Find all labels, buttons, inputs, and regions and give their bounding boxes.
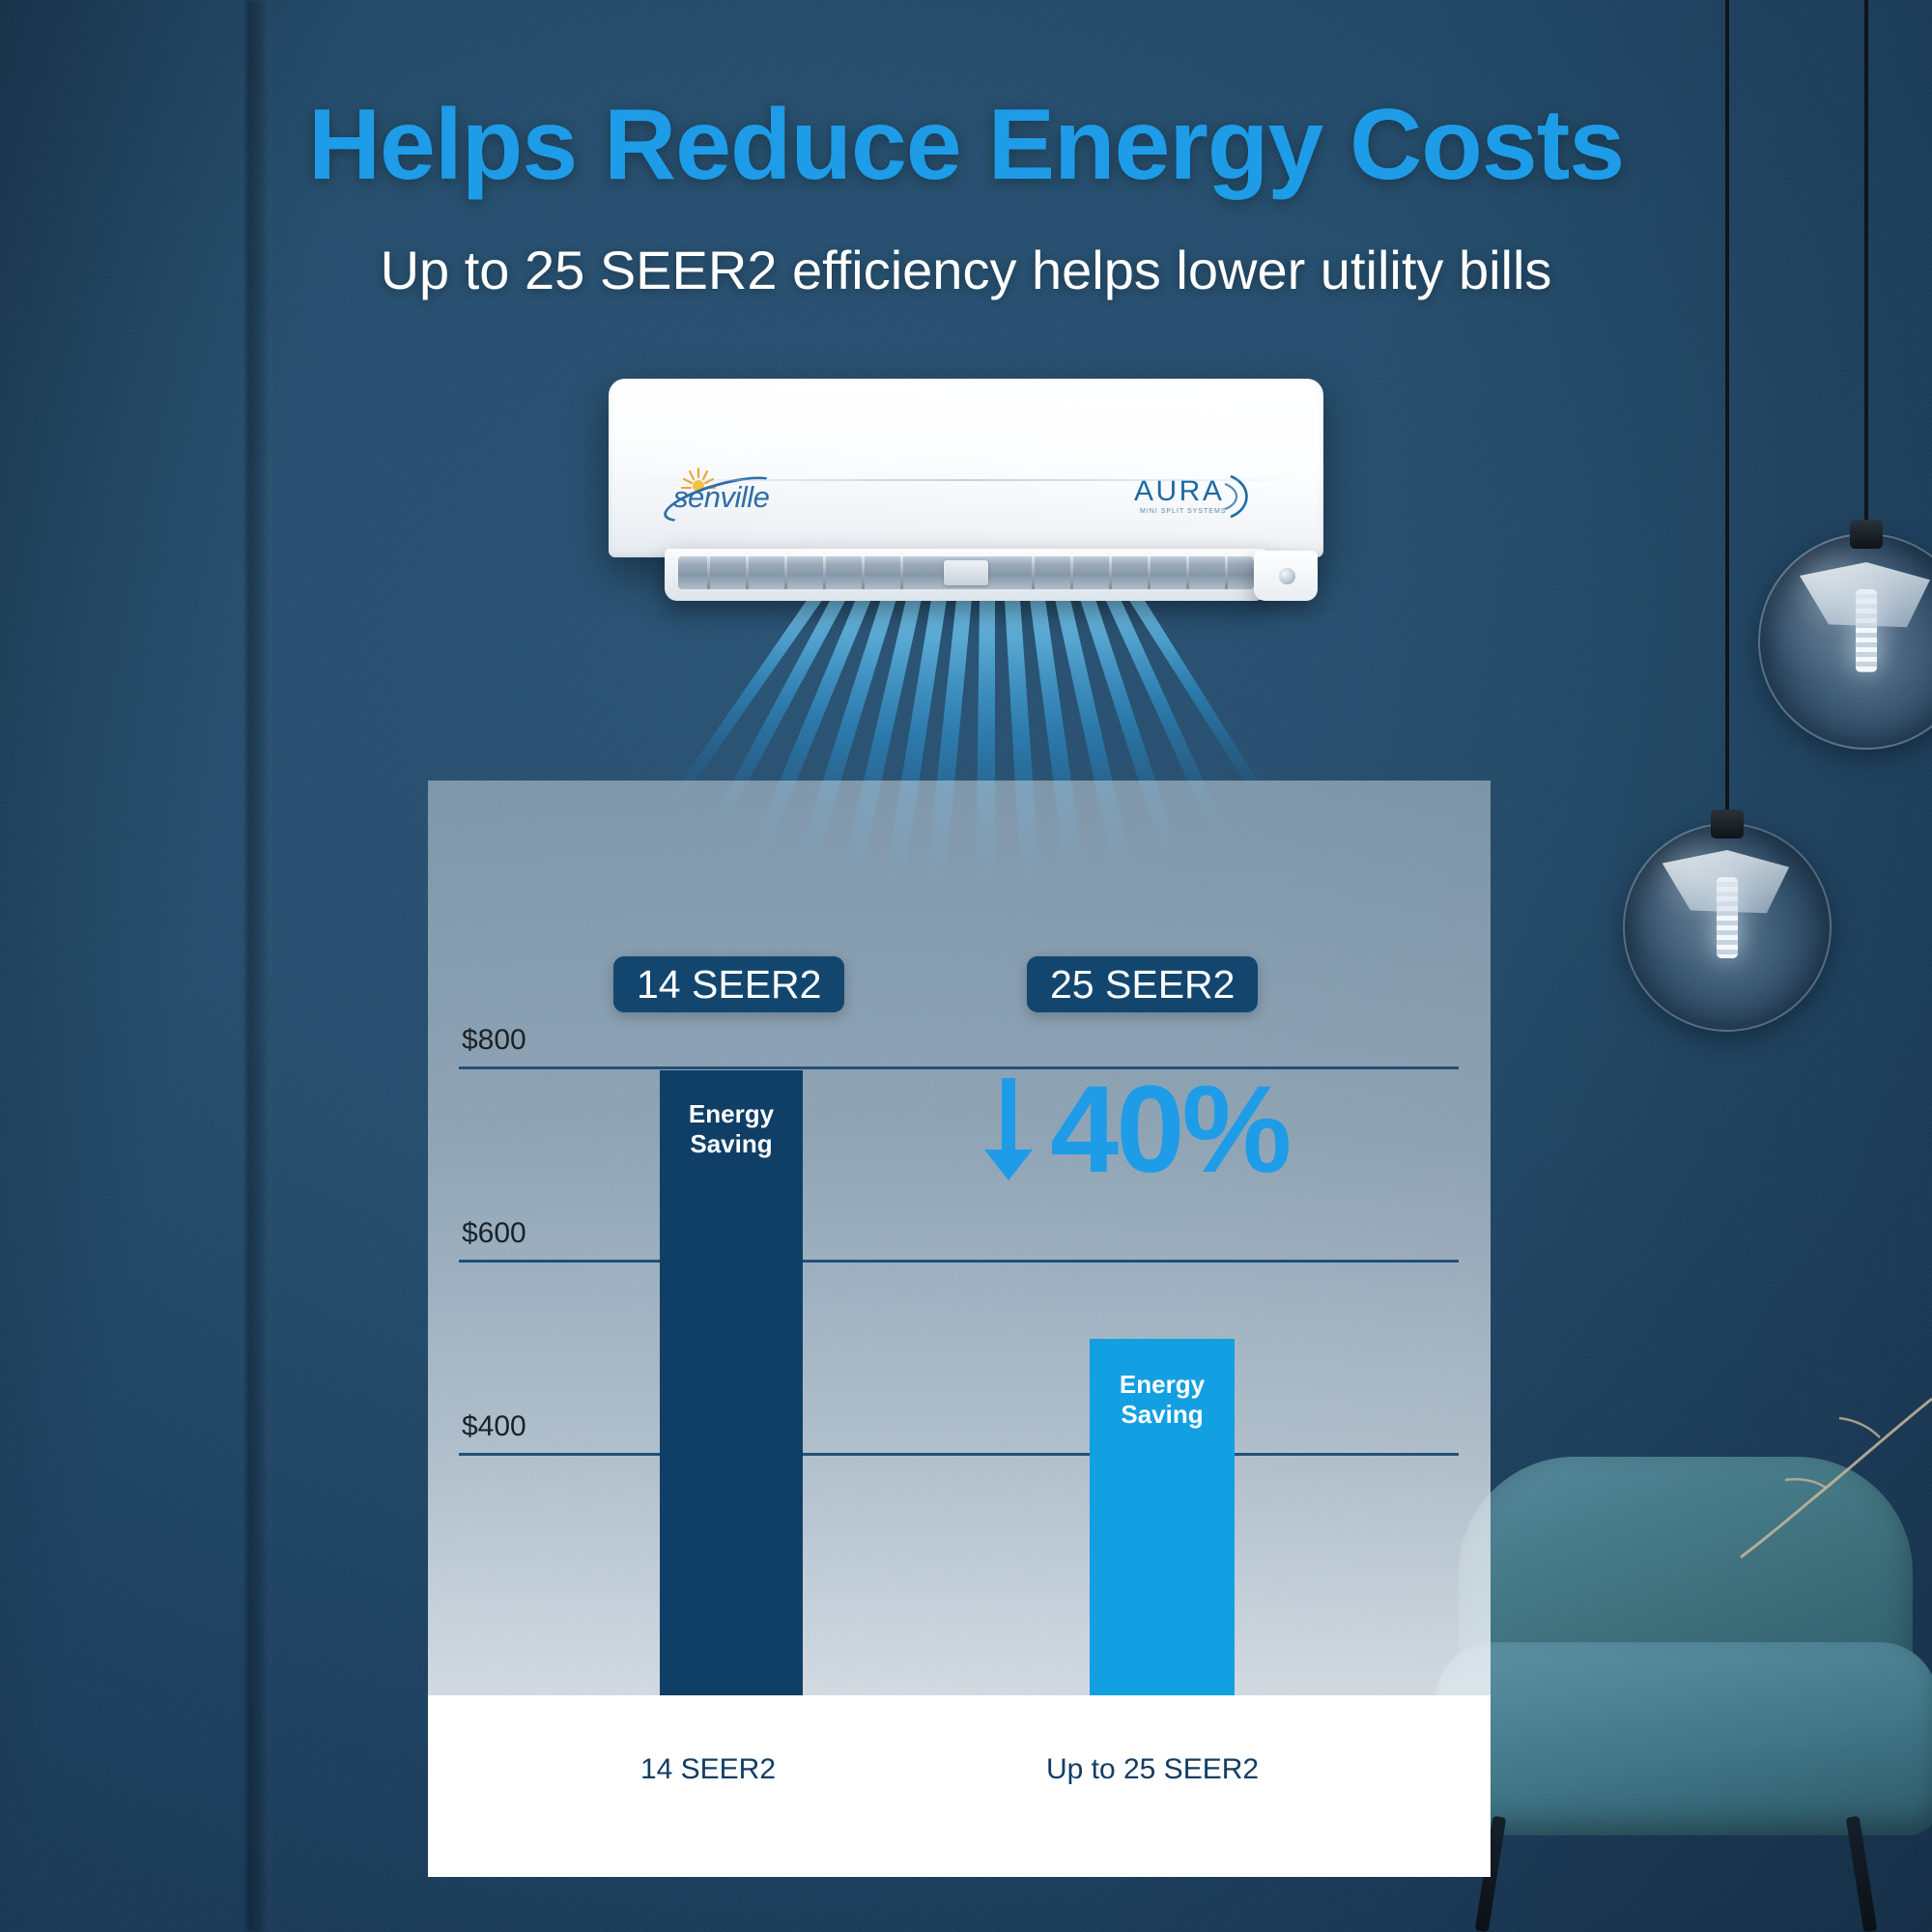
y-tick-800: $800 xyxy=(462,1026,526,1055)
y-tick-400: $400 xyxy=(462,1412,526,1441)
bar-14-seer2: Energy Saving xyxy=(660,1070,803,1695)
gridline-600 xyxy=(459,1260,1459,1263)
lamp-socket-icon xyxy=(1850,520,1883,549)
ac-center-vane-tab xyxy=(944,560,988,585)
senville-brand-logo: senville xyxy=(654,469,809,516)
savings-percent-value: 40% xyxy=(1050,1068,1289,1192)
bar-label-14-seer2: Energy Saving xyxy=(660,1099,803,1158)
page-subtitle: Up to 25 SEER2 efficiency helps lower ut… xyxy=(0,243,1932,298)
chair-seat xyxy=(1435,1642,1932,1835)
badge-14-seer2: 14 SEER2 xyxy=(613,956,844,1012)
decor-branch-icon xyxy=(1690,1391,1932,1575)
down-arrow-icon xyxy=(980,1078,1037,1182)
aura-arc-icon xyxy=(1221,471,1267,522)
ac-ir-receiver-icon xyxy=(1279,568,1295,584)
x-axis-label-25-seer2: Up to 25 SEER2 xyxy=(969,1755,1336,1784)
bar-label-25-seer2: Energy Saving xyxy=(1090,1370,1235,1429)
lamp-glass-globe-icon xyxy=(1758,533,1932,750)
pendant-lamp-right xyxy=(1758,533,1932,750)
badge-25-seer2: 25 SEER2 xyxy=(1027,956,1258,1012)
gridline-400 xyxy=(459,1453,1459,1456)
aura-sublabel: MINI SPLIT SYSTEMS xyxy=(1140,508,1226,515)
y-tick-600: $600 xyxy=(462,1219,526,1248)
aura-wordmark: AURA xyxy=(1134,477,1224,506)
lamp-socket-icon xyxy=(1711,810,1744,838)
page-headline: Helps Reduce Energy Costs xyxy=(0,95,1932,195)
energy-cost-chart-panel: 14 SEER2 25 SEER2 $800 $600 $400 Energy … xyxy=(428,781,1491,1877)
ac-louver-housing xyxy=(665,549,1267,601)
x-axis-label-14-seer2: 14 SEER2 xyxy=(554,1755,863,1784)
ac-air-outlet-vents xyxy=(678,556,1254,589)
savings-callout: 40% xyxy=(980,1068,1289,1192)
ac-front-panel: senville AURA MINI SPLIT SYSTEMS xyxy=(609,379,1323,557)
senville-wordmark: senville xyxy=(673,482,769,512)
gridline-800 xyxy=(459,1066,1459,1069)
pendant-lamp-left xyxy=(1623,823,1832,1032)
bar-25-seer2: Energy Saving xyxy=(1090,1339,1235,1695)
air-conditioner-unit: senville AURA MINI SPLIT SYSTEMS xyxy=(609,379,1323,612)
chart-footer: 14 SEER2 Up to 25 SEER2 xyxy=(428,1695,1491,1877)
aura-series-logo: AURA MINI SPLIT SYSTEMS xyxy=(1130,471,1265,524)
